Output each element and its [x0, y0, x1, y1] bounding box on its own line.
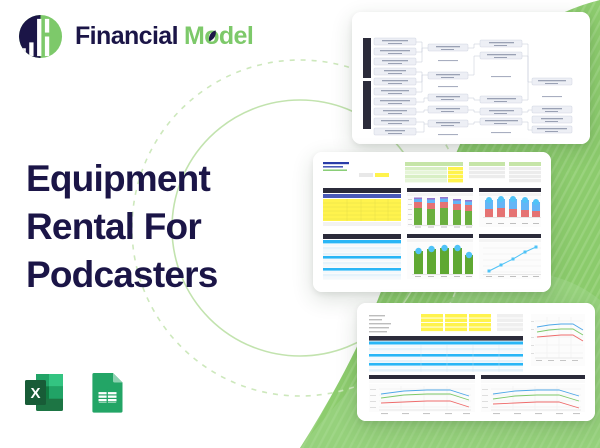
profitability-chart: [479, 188, 541, 227]
revenue-line-chart: [531, 314, 585, 366]
brand-lockup: Financial Model: [17, 13, 253, 60]
dupont-analysis-card[interactable]: [352, 12, 590, 144]
ebitda-chart: [407, 234, 473, 279]
brand-name-primary: Financial: [75, 24, 178, 49]
margins-line-chart: [481, 375, 585, 414]
poster-canvas: Financial Model Equipment Rental For Pod…: [0, 0, 600, 448]
microsoft-excel-icon[interactable]: X: [22, 370, 67, 415]
brand-name-secondary: Model: [184, 24, 253, 49]
forecast-card[interactable]: [357, 303, 595, 421]
expenses-line-chart: [369, 375, 475, 414]
page-title-line-2: Rental For: [26, 203, 286, 251]
file-format-icons: X: [22, 370, 129, 415]
financial-dashboard-card[interactable]: [313, 152, 551, 292]
financial-model-logo-icon: [17, 13, 64, 60]
page-title: Equipment Rental For Podcasters: [26, 155, 286, 299]
svg-text:X: X: [30, 385, 40, 402]
page-title-line-1: Equipment: [26, 155, 286, 203]
leaf-accent-icon: [208, 30, 217, 43]
page-title-line-3: Podcasters: [26, 251, 286, 299]
cash-flow-table: [323, 234, 401, 280]
brand-wordmark: Financial Model: [75, 24, 253, 49]
google-sheets-icon[interactable]: [84, 370, 129, 415]
revenue-breakdown-chart: [407, 188, 473, 228]
investment-payback-chart: [479, 234, 541, 279]
